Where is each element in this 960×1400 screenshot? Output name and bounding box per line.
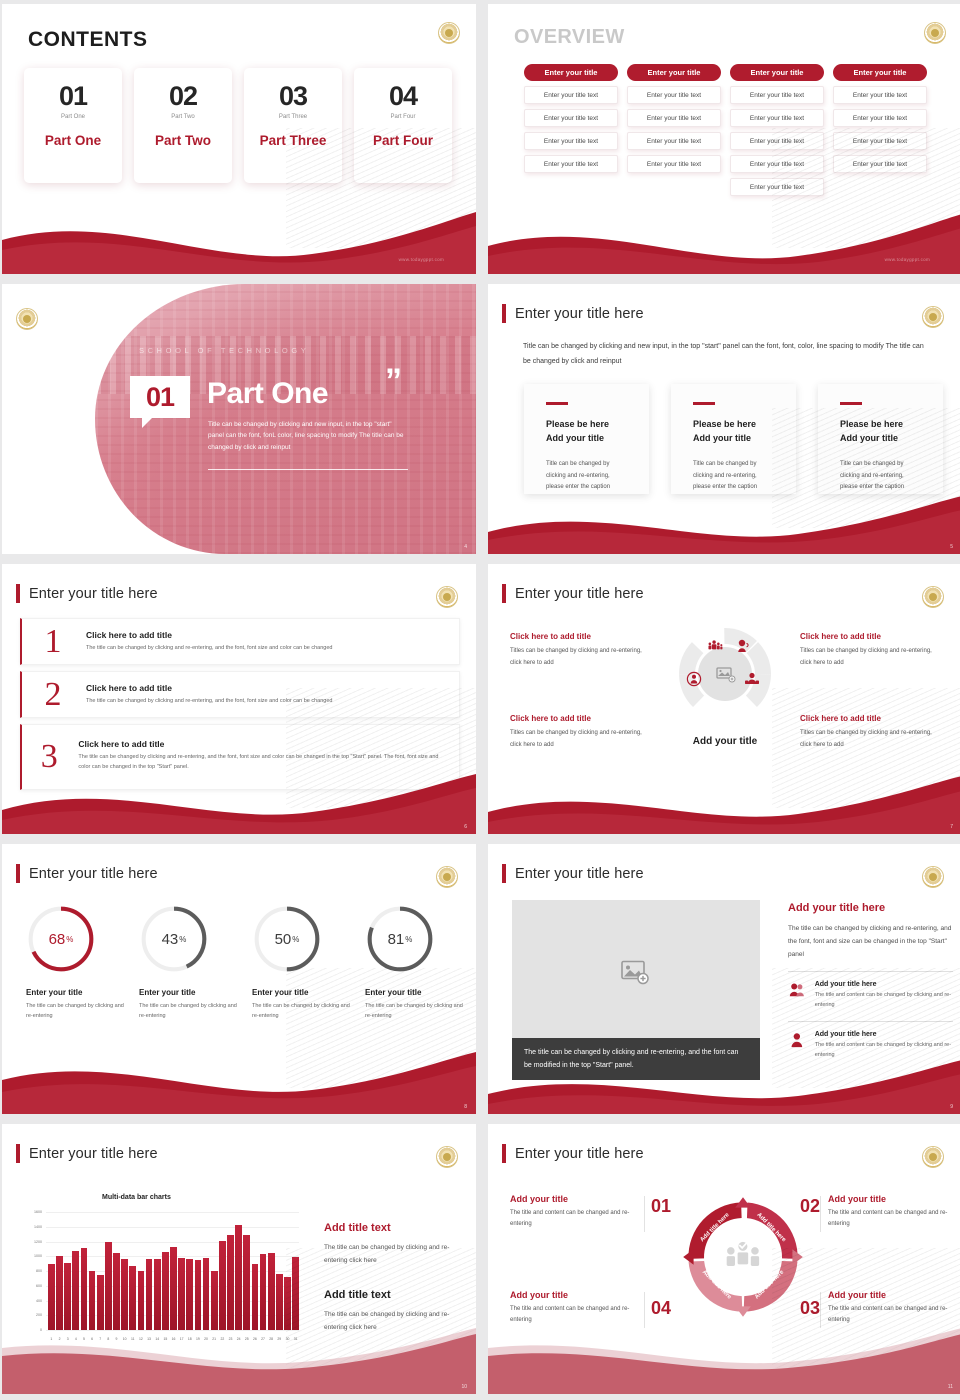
chart-bar [195,1260,202,1330]
image-placeholder[interactable]: The title can be changed by clicking and… [512,900,760,1080]
title-text: Enter your title here [29,1146,158,1162]
card-heading-1: Please be here [840,417,921,431]
x-axis-tick: 15 [162,1337,169,1341]
ring-body: The title can be changed by clicking and… [244,1001,350,1022]
overview-item[interactable]: Enter your title text [730,155,824,173]
title-text: Enter your title here [515,306,644,322]
chart-bar [292,1257,299,1330]
right-panel: Add your title here The title can be cha… [788,902,953,1070]
chart-bar [89,1271,96,1330]
overview-columns: Enter your title Enter your title text E… [524,64,927,196]
ring-body: The title can be changed by clicking and… [131,1001,237,1022]
block-heading: Add your title [828,1290,960,1300]
card-dash [840,402,862,405]
chart-bar [64,1263,71,1330]
slide-deck: CONTENTS 01 Part One Part One 02 Part Tw… [0,0,960,1394]
overview-item[interactable]: Enter your title text [524,155,618,173]
panel-body: The title can be changed by clicking and… [788,922,953,961]
chart-bar [243,1235,250,1330]
page-title: Enter your title here [16,864,158,883]
ring-heading: Enter your title [18,988,124,997]
panel-heading: Add your title here [788,902,953,914]
x-axis-tick: 10 [121,1337,128,1341]
overview-item[interactable]: Enter your title text [833,109,927,127]
list-item[interactable]: Add your title here The title and conten… [788,1031,953,1061]
x-axis-tick: 14 [154,1337,161,1341]
ring-value: 43% [139,904,209,974]
footer-wave [488,486,960,554]
card-label: Part Two [155,133,211,148]
x-axis-tick: 12 [138,1337,145,1341]
x-axis-tick: 11 [129,1337,136,1341]
chart-bar [81,1248,88,1330]
item-heading: Add your title here [815,981,953,988]
x-axis-tick: 8 [105,1337,112,1341]
chart-bars [48,1212,299,1330]
overview-column: Enter your title Enter your title text E… [730,64,824,196]
section-title: Part One [207,377,328,411]
overview-item[interactable]: Enter your title text [730,86,824,104]
chart-bar [138,1271,145,1330]
x-axis-tick: 7 [97,1337,104,1341]
block-body: The title and content can be changed and… [510,1304,642,1327]
block-heading: Click here to add title [510,714,650,723]
card-heading-2: Add your title [693,431,774,445]
section-number-badge: 01 [130,376,190,418]
donut-diagram [675,624,775,724]
item-body: The title and content can be changed by … [815,990,953,1011]
x-axis-tick: 21 [211,1337,218,1341]
x-axis-tick: 19 [195,1337,202,1341]
x-axis-tick: 30 [284,1337,291,1341]
overview-item[interactable]: Enter your title text [730,132,824,150]
card-subtitle: Part Three [279,114,307,120]
block-heading: Add your title [510,1290,642,1300]
slide-three-cards: Enter your title here Title can be chang… [488,284,960,554]
chart-x-axis-labels: 1234567891011121314151617181920212223242… [48,1337,299,1341]
progress-ring: 81% [365,904,435,974]
card-body: Title can be changed by clicking and re-… [840,459,921,493]
x-axis-tick: 4 [72,1337,79,1341]
team-check-icon [727,1242,759,1266]
overview-item[interactable]: Enter your title text [833,86,927,104]
card-heading-1: Please be here [546,417,627,431]
two-people-icon [788,981,806,999]
y-axis-tick: 1600 [22,1210,42,1214]
chart-bar [154,1259,161,1330]
chart-bar [105,1242,112,1331]
quote-mark-icon: ” [385,371,402,391]
overview-item[interactable]: Enter your title text [524,109,618,127]
ring-item: 50% Enter your title The title can be ch… [244,904,350,1022]
title-accent-bar [16,584,20,603]
card-heading-2: Add your title [840,431,921,445]
page-number: 7 [950,824,953,830]
block-body: The title and content can be changed and… [828,1304,960,1327]
ring-item: 43% Enter your title The title can be ch… [131,904,237,1022]
title-text: Enter your title here [515,866,644,882]
single-person-icon [788,1031,806,1049]
overview-item[interactable]: Enter your title text [627,109,721,127]
panel-divider [788,971,953,972]
slide-numbered-list: Enter your title here 1 Click here to ad… [2,564,476,834]
cycle-number-03: 03 [800,1298,820,1319]
y-axis-tick: 600 [22,1284,42,1288]
panel-heading-2: Add title text [324,1289,466,1301]
list-item[interactable]: 3 Click here to add title The title can … [20,724,460,790]
quad-block-bottom-left: Click here to add title Titles can be ch… [510,714,650,751]
list-item[interactable]: 1 Click here to add title The title can … [20,618,460,665]
content-card[interactable]: Please be here Add your title Title can … [818,384,943,494]
ring-heading: Enter your title [244,988,350,997]
chart-title: Multi-data bar charts [102,1194,171,1201]
panel-body-1: The title can be changed by clicking and… [324,1241,466,1267]
x-axis-tick: 28 [268,1337,275,1341]
chart-bar [162,1252,169,1330]
slide-section-divider: SCHOOL OF TECHNOLOGY 01 Part One ” Title… [2,284,476,554]
column-pill[interactable]: Enter your title [730,64,824,81]
slide-contents: CONTENTS 01 Part One Part One 02 Part Tw… [2,4,476,274]
chart-bar [56,1256,63,1330]
page-title: Enter your title here [502,864,644,883]
chart-bar [121,1259,128,1330]
cycle-diagram: Add title here Add title here Add title … [678,1192,808,1322]
ring-value: 68% [26,904,96,974]
footer-wave [488,206,960,274]
chart-bar [276,1274,283,1330]
school-seal-icon [922,586,944,608]
cycle-number-01: 01 [651,1196,671,1217]
school-seal-icon [922,866,944,888]
contents-card[interactable]: 03 Part Three Part Three [244,68,342,183]
row-heading: Click here to add title [86,630,332,640]
column-pill[interactable]: Enter your title [833,64,927,81]
page-number: 5 [950,544,953,550]
y-axis-tick: 200 [22,1313,42,1317]
card-number: 02 [169,83,197,110]
page-number: 11 [948,1384,953,1390]
block-body: The title and content can be changed and… [510,1208,642,1231]
card-row: Please be here Add your title Title can … [524,384,943,494]
chart-bar [129,1266,136,1330]
item-heading: Add your title here [815,1031,953,1038]
chart-bar [178,1258,185,1330]
page-title: Enter your title here [502,304,644,323]
x-axis-tick: 31 [292,1337,299,1341]
chart-bar [72,1251,79,1330]
progress-ring: 50% [252,904,322,974]
numbered-rows: 1 Click here to add title The title can … [20,618,460,790]
donut-diagram-area: Add your title Click here to add title T… [488,614,960,804]
ring-body: The title can be changed by clicking and… [18,1001,124,1022]
contents-card[interactable]: 02 Part Two Part Two [134,68,232,183]
slide-cycle-diagram: Enter your title here [488,1124,960,1394]
image-caption: The title can be changed by clicking and… [512,1038,760,1080]
group-people-icon [708,640,722,649]
block-body: The title and content can be changed and… [828,1208,960,1231]
ring-item: 81% Enter your title The title can be ch… [357,904,463,1022]
contents-card-row: 01 Part One Part One 02 Part Two Part Tw… [24,68,452,183]
y-axis-tick: 1200 [22,1240,42,1244]
card-body: Title can be changed by clicking and re-… [693,459,774,493]
x-axis-tick: 1 [48,1337,55,1341]
overview-item[interactable]: Enter your title text [627,86,721,104]
ring-item: 68% Enter your title The title can be ch… [18,904,124,1022]
row-body: The title can be changed by clicking and… [86,697,332,707]
row-body: The title can be changed by clicking and… [78,753,445,773]
bar-chart: 16001400120010008006004002000 1234567891… [24,1212,299,1342]
x-axis-tick: 27 [260,1337,267,1341]
overview-column: Enter your title Enter your title text E… [524,64,618,196]
y-axis-tick: 1000 [22,1254,42,1258]
block-body: Titles can be changed by clicking and re… [800,645,940,669]
block-body: Titles can be changed by clicking and re… [510,727,650,751]
row-number: 2 [36,681,70,708]
slide-donut-quad: Enter your title here [488,564,960,834]
cycle-number-02: 02 [800,1196,820,1217]
chart-bar [146,1259,153,1330]
card-label: Part One [45,133,101,148]
column-pill[interactable]: Enter your title [627,64,721,81]
page-number: 6 [464,824,467,830]
x-axis-tick: 9 [113,1337,120,1341]
x-axis-tick: 17 [178,1337,185,1341]
school-seal-icon [436,866,458,888]
block-divider [644,1196,645,1232]
school-seal-icon [436,1146,458,1168]
page-title: OVERVIEW [514,26,625,49]
slide-image-and-list: Enter your title here The title can be c… [488,844,960,1114]
x-axis-tick: 25 [243,1337,250,1341]
list-item[interactable]: Add your title here The title and conten… [788,981,953,1011]
title-accent-bar [502,864,506,883]
overview-item[interactable]: Enter your title text [730,178,824,196]
row-body: The title can be changed by clicking and… [86,644,332,654]
card-subtitle: Part Two [171,114,195,120]
chart-bar [48,1264,55,1330]
x-axis-tick: 13 [146,1337,153,1341]
y-axis-tick: 1400 [22,1225,42,1229]
x-axis-tick: 29 [276,1337,283,1341]
cycle-block-01: Add your title The title and content can… [510,1194,642,1231]
block-divider [820,1292,821,1328]
chart-bar [227,1235,234,1330]
card-number: 01 [59,83,87,110]
x-axis-tick: 26 [252,1337,259,1341]
quad-block-bottom-right: Click here to add title Titles can be ch… [800,714,940,751]
overview-item[interactable]: Enter your title text [524,86,618,104]
block-heading: Click here to add title [800,632,940,641]
title-text: Enter your title here [29,866,158,882]
item-body: The title and content can be changed by … [815,1040,953,1061]
x-axis-tick: 24 [235,1337,242,1341]
title-accent-bar [502,1144,506,1163]
x-axis-tick: 22 [219,1337,226,1341]
content-card[interactable]: Please be here Add your title Title can … [671,384,796,494]
chart-bar [186,1259,193,1330]
y-axis-tick: 0 [22,1328,42,1332]
overview-item[interactable]: Enter your title text [627,155,721,173]
y-axis-tick: 400 [22,1299,42,1303]
ring-row: 68% Enter your title The title can be ch… [18,904,463,1022]
ring-value: 81% [365,904,435,974]
divider-rule [208,469,408,470]
page-number: 9 [950,1104,953,1110]
card-dash [693,402,715,405]
overview-column: Enter your title Enter your title text E… [627,64,721,196]
title-accent-bar [16,1144,20,1163]
page-number: 8 [464,1104,467,1110]
row-heading: Click here to add title [86,683,332,693]
slide-progress-rings: Enter your title here 68% Enter your tit… [2,844,476,1114]
overview-item[interactable]: Enter your title text [833,155,927,173]
chart-bar [211,1271,218,1330]
lead-paragraph: Title can be changed by clicking and new… [523,340,928,369]
contents-card[interactable]: 01 Part One Part One [24,68,122,183]
card-body: Title can be changed by clicking and re-… [546,459,627,493]
overview-item[interactable]: Enter your title text [730,109,824,127]
footer-wave [2,206,476,274]
campus-caption: SCHOOL OF TECHNOLOGY [139,346,309,355]
title-accent-bar [502,304,506,323]
school-seal-icon [436,586,458,608]
page-number: 10 [461,1384,467,1390]
gridline [46,1330,299,1331]
chart-bar [268,1253,275,1330]
school-seal-icon [16,308,38,330]
page-number: 4 [464,544,467,550]
block-heading: Add your title [510,1194,642,1204]
overview-item[interactable]: Enter your title text [627,132,721,150]
chart-bar [203,1258,210,1330]
image-placeholder-icon [621,960,651,991]
school-seal-icon [438,22,460,44]
ring-heading: Enter your title [131,988,237,997]
chart-bar [170,1247,177,1330]
cycle-number-04: 04 [651,1298,671,1319]
row-number: 1 [36,628,70,655]
site-watermark: www.todaygppt.com [399,257,444,262]
block-divider [820,1196,821,1232]
card-label: Part Four [373,133,433,148]
page-title: Enter your title here [502,1144,644,1163]
slide-bar-chart: Enter your title here Multi-data bar cha… [2,1124,476,1394]
chart-bar [252,1264,259,1330]
chart-bar [97,1275,104,1330]
right-panel: Add title text The title can be changed … [324,1222,466,1334]
x-axis-tick: 18 [186,1337,193,1341]
chart-bar [113,1253,120,1330]
title-text: Enter your title here [29,586,158,602]
x-axis-tick: 20 [203,1337,210,1341]
card-heading-2: Add your title [546,431,627,445]
panel-heading-1: Add title text [324,1222,466,1234]
page-title: CONTENTS [28,28,148,52]
block-heading: Click here to add title [510,632,650,641]
ring-value: 50% [252,904,322,974]
block-body: Titles can be changed by clicking and re… [510,645,650,669]
title-accent-bar [16,864,20,883]
site-watermark: www.todaygppt.com [885,257,930,262]
cycle-block-04: Add your title The title and content can… [510,1290,642,1327]
x-axis-tick: 6 [89,1337,96,1341]
block-divider [644,1292,645,1328]
title-accent-bar [502,584,506,603]
card-label: Part Three [260,133,327,148]
block-heading: Click here to add title [800,714,940,723]
x-axis-tick: 16 [170,1337,177,1341]
cycle-block-02: Add your title The title and content can… [828,1194,960,1231]
card-heading-1: Please be here [693,417,774,431]
section-body: Title can be changed by clicking and new… [208,419,408,453]
page-title: Enter your title here [502,584,644,603]
progress-ring: 68% [26,904,96,974]
quad-block-top-right: Click here to add title Titles can be ch… [800,632,940,669]
x-axis-tick: 2 [56,1337,63,1341]
chart-bar [219,1241,226,1330]
list-item[interactable]: 2 Click here to add title The title can … [20,671,460,718]
y-axis-tick: 800 [22,1269,42,1273]
overview-column: Enter your title Enter your title text E… [833,64,927,196]
chart-bar [260,1254,267,1330]
row-number: 3 [36,743,62,770]
school-seal-icon [924,22,946,44]
card-number: 04 [389,83,417,110]
card-subtitle: Part One [61,114,85,120]
block-body: Titles can be changed by clicking and re… [800,727,940,751]
school-seal-icon [922,1146,944,1168]
overview-item[interactable]: Enter your title text [524,132,618,150]
slide-overview: OVERVIEW Enter your title Enter your tit… [488,4,960,274]
school-seal-icon [922,306,944,328]
progress-ring: 43% [139,904,209,974]
x-axis-tick: 3 [64,1337,71,1341]
footer-wave [2,1046,476,1114]
block-heading: Add your title [828,1194,960,1204]
x-axis-tick: 5 [81,1337,88,1341]
ring-heading: Enter your title [357,988,463,997]
cycle-block-03: Add your title The title and content can… [828,1290,960,1327]
title-text: Enter your title here [515,586,644,602]
row-heading: Click here to add title [78,739,445,749]
card-number: 03 [279,83,307,110]
x-axis-tick: 23 [227,1337,234,1341]
page-title: Enter your title here [16,584,158,603]
panel-divider [788,1021,953,1022]
title-text: Enter your title here [515,1146,644,1162]
contents-card[interactable]: 04 Part Four Part Four [354,68,452,183]
panel-body-2: The title can be changed by clicking and… [324,1308,466,1334]
quad-block-top-left: Click here to add title Titles can be ch… [510,632,650,669]
page-title: Enter your title here [16,1144,158,1163]
content-card[interactable]: Please be here Add your title Title can … [524,384,649,494]
ring-body: The title can be changed by clicking and… [357,1001,463,1022]
overview-item[interactable]: Enter your title text [833,132,927,150]
card-subtitle: Part Four [390,114,415,120]
cycle-diagram-area: Add title here Add title here Add title … [488,1172,960,1372]
chart-bar [284,1277,291,1330]
chart-bar [235,1225,242,1330]
card-dash [546,402,568,405]
column-pill[interactable]: Enter your title [524,64,618,81]
